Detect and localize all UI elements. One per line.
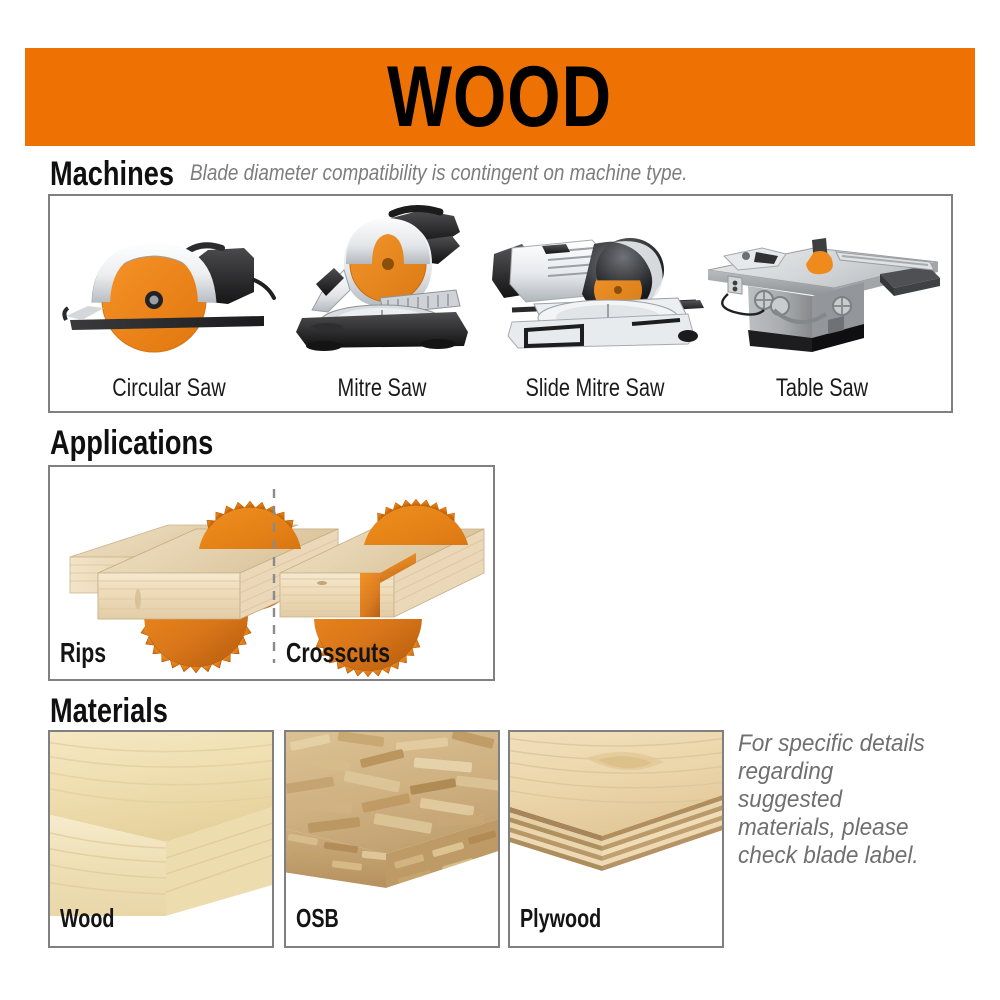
materials-note: For specific details regarding suggested… [738,730,937,870]
machine-label-table-saw: Table Saw [726,374,918,403]
machine-label-mitre-saw: Mitre Saw [302,374,462,403]
slide-mitre-saw-icon [482,218,712,354]
application-label-crosscuts: Crosscuts [286,637,390,669]
plywood-swatch [510,732,722,882]
material-label-plywood: Plywood [520,903,601,934]
machines-heading: Machines [50,155,174,194]
wood-info-panel: WOOD Machines Blade diameter compatibili… [0,0,1000,1000]
applications-heading: Applications [50,424,213,463]
applications-box: Rips Crosscuts [48,465,495,681]
machine-label-slide-mitre-saw: Slide Mitre Saw [495,374,695,403]
material-box-wood: Wood [48,730,274,948]
rip-and-crosscut-illustration [50,467,493,679]
material-label-wood: Wood [60,903,115,934]
mitre-saw-icon [288,206,478,352]
circular-saw-icon [58,220,280,350]
machines-box: Circular Saw [48,194,953,413]
material-box-plywood: Plywood [508,730,724,948]
materials-heading: Materials [50,692,168,731]
header-banner: WOOD [25,48,975,146]
machine-label-circular-saw: Circular Saw [80,374,258,403]
osb-swatch [286,732,498,892]
page-title: WOOD [388,54,613,140]
solid-wood-swatch [50,732,272,912]
application-label-rips: Rips [60,637,106,669]
table-saw-icon [702,218,942,354]
machines-note: Blade diameter compatibility is continge… [190,160,687,186]
material-box-osb: OSB [284,730,500,948]
material-label-osb: OSB [296,903,339,934]
